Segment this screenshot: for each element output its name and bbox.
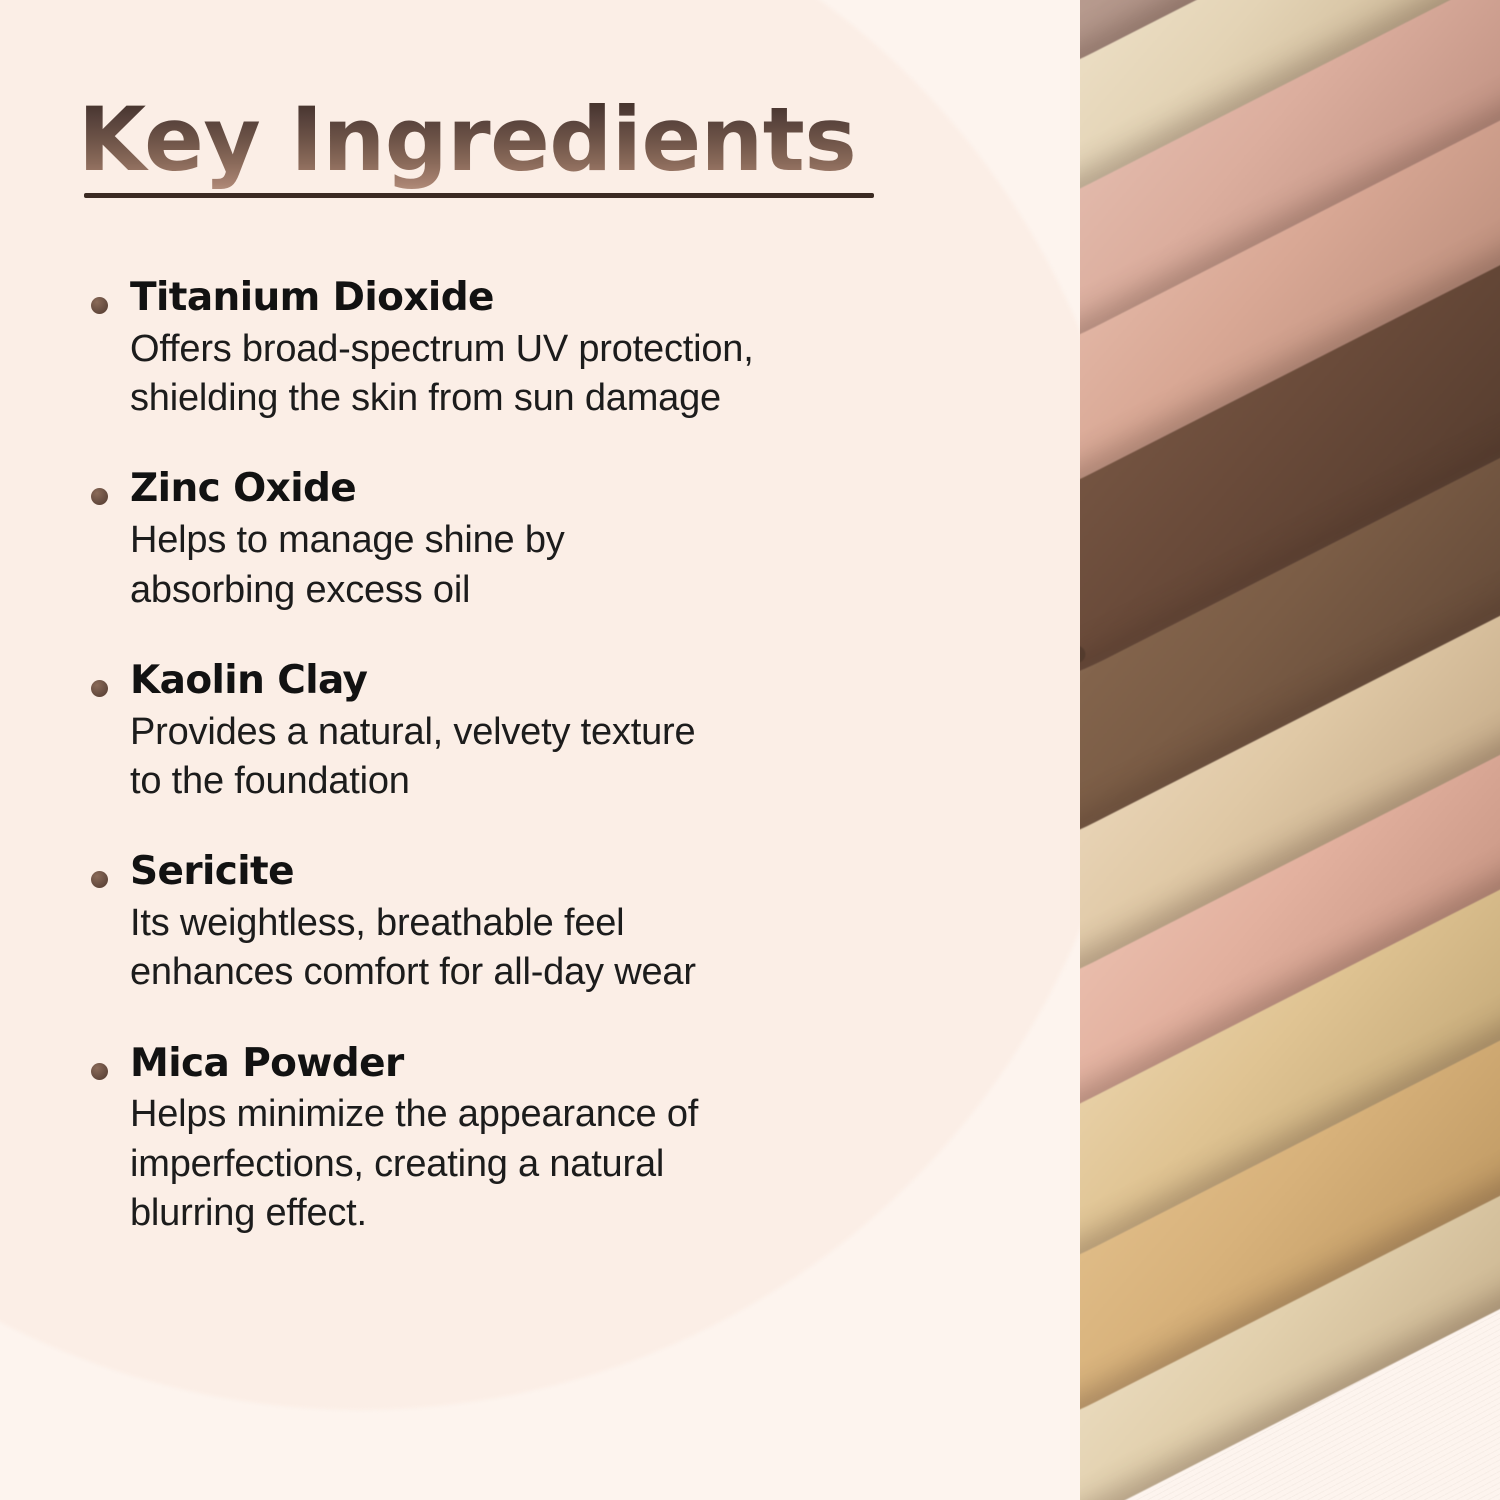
ingredient-description: Its weightless, breathable feel enhances… <box>130 899 1040 998</box>
ingredient-name: Mica Powder <box>130 1042 1040 1086</box>
powder-band-stack <box>1080 0 1500 1500</box>
ingredient-name: Titanium Dioxide <box>130 276 1040 320</box>
list-item: Kaolin Clay Provides a natural, velvety … <box>78 659 1040 806</box>
ingredient-name: Zinc Oxide <box>130 467 1040 511</box>
list-item: Titanium Dioxide Offers broad-spectrum U… <box>78 276 1040 423</box>
list-item: Mica Powder Helps minimize the appearanc… <box>78 1042 1040 1239</box>
powder-swatch-photo <box>1080 0 1500 1500</box>
content-column: Key Ingredients Titanium Dioxide Offers … <box>0 0 1040 1500</box>
bullet-icon <box>91 680 108 697</box>
ingredient-name: Sericite <box>130 850 1040 894</box>
ingredient-name: Kaolin Clay <box>130 659 1040 703</box>
bullet-icon <box>91 297 108 314</box>
poster-canvas: Key Ingredients Titanium Dioxide Offers … <box>0 0 1500 1500</box>
ingredients-list: Titanium Dioxide Offers broad-spectrum U… <box>78 276 1040 1239</box>
ingredient-description: Provides a natural, velvety texture to t… <box>130 708 1040 807</box>
list-item: Sericite Its weightless, breathable feel… <box>78 850 1040 997</box>
ingredient-description: Helps minimize the appearance of imperfe… <box>130 1090 1040 1238</box>
page-title: Key Ingredients <box>78 96 856 192</box>
bullet-icon <box>91 871 108 888</box>
bullet-icon <box>91 488 108 505</box>
page-title-wrapper: Key Ingredients <box>78 96 856 192</box>
bullet-icon <box>91 1063 108 1080</box>
ingredient-description: Offers broad-spectrum UV protection, shi… <box>130 325 1040 424</box>
ingredient-description: Helps to manage shine by absorbing exces… <box>130 516 1040 615</box>
title-underline-rule <box>84 193 874 198</box>
list-item: Zinc Oxide Helps to manage shine by abso… <box>78 467 1040 614</box>
